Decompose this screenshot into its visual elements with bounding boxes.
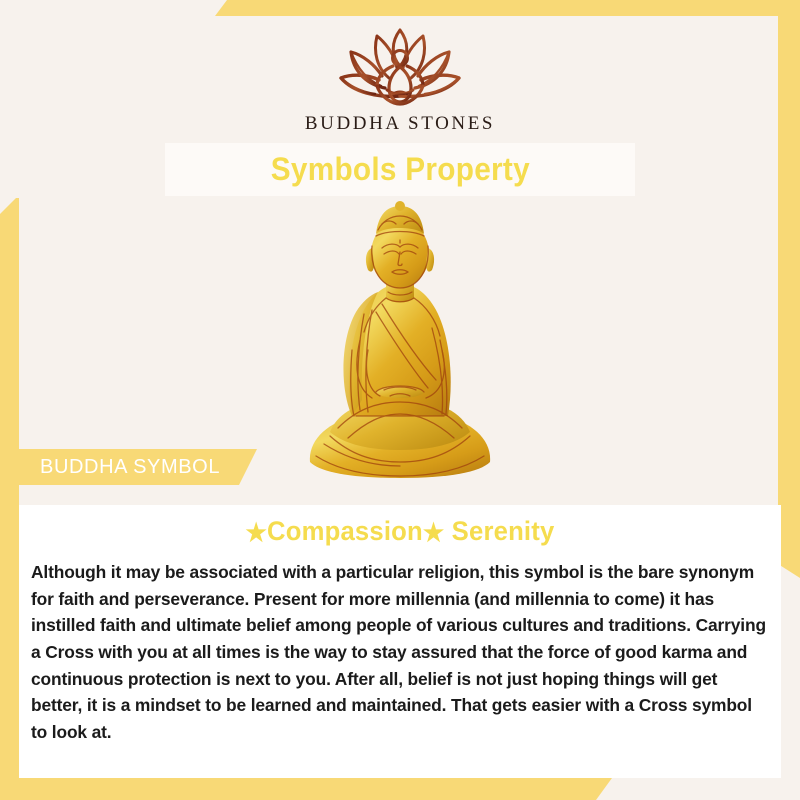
decoration-top-bar [215, 0, 800, 16]
decoration-bottom-bar [0, 778, 612, 800]
infographic-poster: BUDDHA STONES Symbols Property [0, 0, 800, 800]
keywords-line: ★Compassion★ Serenity [38, 516, 762, 548]
star-icon-mid: ★ [423, 519, 444, 547]
brand-logo: BUDDHA STONES [0, 22, 800, 135]
title-band: Symbols Property [165, 143, 635, 196]
content-panel: ★Compassion★ Serenity Although it may be… [19, 505, 781, 778]
keyword-serenity: Serenity [452, 516, 555, 546]
hero-image [0, 200, 800, 490]
star-icon-left: ★ [246, 519, 267, 547]
description-paragraph: Although it may be associated with a par… [31, 559, 769, 745]
lotus-meditation-figure-icon [315, 22, 485, 110]
page-title: Symbols Property [270, 151, 529, 188]
brand-name: BUDDHA STONES [0, 113, 800, 135]
keyword-compassion: Compassion [267, 516, 423, 546]
buddha-statue-icon [290, 200, 510, 490]
section-banner-label: BUDDHA SYMBOL [40, 456, 220, 479]
section-banner: BUDDHA SYMBOL [19, 449, 257, 485]
